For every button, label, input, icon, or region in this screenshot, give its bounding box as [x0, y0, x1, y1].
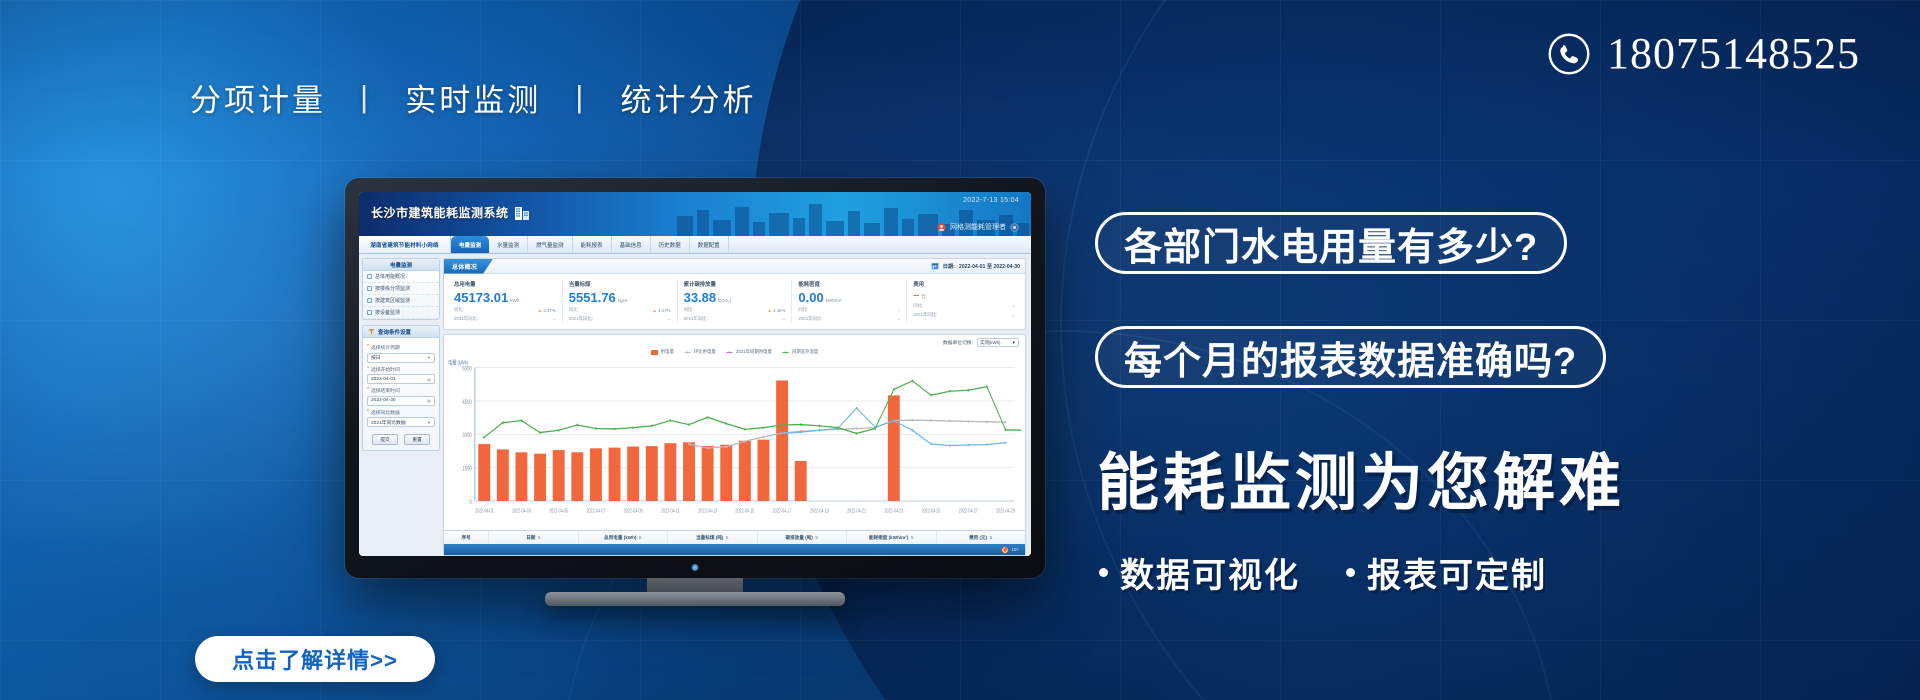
svg-text:电量 (kWh): 电量 (kWh) [448, 359, 469, 367]
list-bullet-icon [367, 274, 372, 279]
feature-bullet-visualization: 数据可视化 [1099, 548, 1300, 597]
overview-panel-title: 总体概况 [444, 259, 493, 274]
filter-label-text: 选择开始时间 [371, 366, 400, 373]
stat-prev-value: -- [782, 317, 785, 322]
nav-tab-list: 电量监测 水量监测 燃气量监测 能耗报表 基础信息 历史数据 数据配置 [451, 236, 729, 253]
filter-select-period[interactable]: 按日 ▼ [367, 353, 435, 363]
trend-up-icon: ▲ [653, 308, 657, 313]
chart-unit-value: 实测(kWh) [980, 340, 1001, 346]
stat-value-row: 33.88 t(CO₂) [684, 291, 786, 304]
tagline-part-3: 统计分析 [621, 83, 757, 118]
svg-text:0: 0 [469, 499, 471, 506]
svg-text:2022-04-01: 2022-04-01 [475, 508, 494, 514]
required-marker: * [367, 388, 369, 393]
chevron-down-icon: ▼ [427, 355, 431, 360]
svg-text:2022-04-05: 2022-04-05 [549, 508, 568, 514]
header-timestamp: 2022-7-13 15:04 [963, 197, 1019, 204]
stat-prev-row: 2021年同比: -- [684, 316, 786, 322]
overview-date-range[interactable]: 日期: 2022-04-01 至 2022-04-30 [931, 262, 1020, 270]
required-marker: * [367, 345, 369, 350]
sort-icon[interactable]: ⇅ [537, 536, 540, 539]
chart-panel: 数据单位切换: 实测(kWh) ▼ 用电量 [443, 334, 1026, 556]
stat-prev-label: 2021年同比: [569, 316, 593, 322]
svg-text:2022-04-09: 2022-04-09 [624, 508, 643, 514]
table-col-index: 序号 [444, 531, 489, 544]
stat-compare-label: 同比: [798, 307, 808, 313]
filter-label-period: * 选择统计周期 [367, 344, 435, 351]
filter-input-start-date[interactable]: 2022-04-01 ▤ [367, 374, 435, 384]
sort-icon[interactable]: ⇅ [815, 536, 818, 539]
legend-label: 2021年同期用电量 [736, 349, 772, 355]
tagline-part-2: 实时监测 [405, 83, 541, 118]
table-col-total-electricity[interactable]: 总用电量 (kWh)⇅ [579, 531, 668, 544]
nav-tab-water[interactable]: 水量监测 [489, 236, 528, 253]
stat-trend: 4.47% [543, 308, 555, 313]
filter-value-period: 按日 [371, 354, 381, 361]
legend-swatch-line-icon [684, 350, 691, 355]
energy-chart: 01500300045006000电量 (kWh)2022-04-012022-… [444, 356, 1021, 530]
app-body: 电量监测 总体用能概况 按楼栋分项监测 按建筑区域监 [359, 254, 1031, 556]
legend-swatch-line-icon [726, 350, 733, 355]
stat-card-carbon-emission: 累计碳排放量 33.88 t(CO₂) 同比: ▲ 4.46% [678, 280, 793, 322]
stat-value: 5551.76 [569, 291, 616, 304]
refresh-icon[interactable] [1001, 546, 1009, 554]
stat-prev-label: 2021年同比: [913, 312, 937, 318]
nav-tab-config[interactable]: 数据配置 [690, 236, 729, 253]
legend-swatch-bar-icon [651, 350, 658, 355]
svg-text:2022-04-27: 2022-04-27 [959, 508, 978, 514]
chart-legend: 用电量 环比用电量 2021年同期用电量 [444, 347, 1025, 356]
sidebar-section-title: 电量监测 [363, 259, 439, 271]
stat-trend: -- [1012, 304, 1015, 309]
table-col-cost[interactable]: 费用 (元)⇅ [937, 531, 1025, 544]
stat-compare-row: 同比: ▲ 4.47% [454, 307, 556, 313]
sidebar-nav-card: 电量监测 总体用能概况 按楼栋分项监测 按建筑区域监 [362, 258, 440, 320]
list-bullet-icon [367, 298, 372, 303]
stat-trend: 4.47% [658, 308, 670, 313]
chart-unit-label: 数据单位切换: [943, 339, 973, 346]
svg-text:2022-04-25: 2022-04-25 [922, 508, 941, 514]
sidebar-item-by-building[interactable]: 按楼栋分项监测 [363, 283, 439, 295]
svg-text:2022-04-15: 2022-04-15 [735, 508, 754, 514]
monitor-bezel: 长沙市建筑能耗监测系统 [345, 178, 1045, 578]
stat-card-cost: 费用 -- 元 同比: -- [907, 280, 1021, 322]
app-screen: 长沙市建筑能耗监测系统 [359, 192, 1031, 556]
stat-value-row: 0.00 kWh/m² [798, 291, 900, 304]
stat-trend: -- [897, 308, 900, 313]
table-footer-badge: 10+ [1012, 547, 1019, 552]
legend-label: 用电量 [661, 349, 674, 355]
tagline-part-1: 分项计量 [190, 83, 326, 118]
building-icon [514, 205, 530, 221]
header-user[interactable]: 网格测能耗管理者 [937, 222, 1019, 232]
bullet-dot-icon [1346, 568, 1355, 577]
trend-up-icon: ▲ [538, 308, 542, 313]
legend-item-mom[interactable]: 环比用电量 [684, 349, 716, 355]
filter-label-text: 选择统计周期 [371, 344, 400, 351]
table-header-row: 序号 日期⇅ 总用电量 (kWh)⇅ 当量标煤 (吨)⇅ 碳排放量 (吨)⇅ 能… [444, 531, 1025, 544]
monitor-power-led [692, 564, 699, 571]
stat-compare-label: 同比: [454, 307, 464, 313]
sidebar-item-by-device[interactable]: 按设备监测 [363, 307, 439, 319]
sidebar-item-label: 总体用能概况 [375, 273, 405, 280]
stat-name: 总用电量 [454, 280, 556, 288]
required-marker: * [367, 367, 369, 372]
stat-trend: 4.46% [773, 308, 785, 313]
sidebar-item-overview[interactable]: 总体用能概况 [363, 271, 439, 283]
table-col-label: 日期 [526, 535, 535, 541]
stat-value-row: 45173.01 kWh [454, 291, 556, 304]
svg-text:2022-04-19: 2022-04-19 [810, 508, 829, 514]
svg-text:2022-04-07: 2022-04-07 [586, 508, 605, 514]
stat-value-row: 5551.76 kgce [569, 291, 671, 304]
stat-compare-row: 同比: ▲ 4.47% [569, 307, 671, 313]
tagline-separator-2: 丨 [553, 75, 609, 120]
sidebar-item-label: 按建筑区域监测 [375, 297, 410, 304]
headline: 能耗监测为您解难 [1097, 432, 1625, 522]
table-footer: 10+ [444, 544, 1025, 555]
stat-unit: 元 [921, 295, 926, 300]
filter-panel-title: 查询条件设置 [378, 328, 411, 336]
table-col-label: 序号 [462, 535, 471, 541]
stat-compare-row: 同比: -- [798, 307, 900, 313]
legend-item-usage[interactable]: 用电量 [651, 349, 674, 355]
stat-prev-value: -- [897, 317, 900, 322]
table-col-label: 能耗密度 (kWh/m²) [869, 535, 908, 541]
nav-tab-history[interactable]: 历史数据 [651, 236, 690, 253]
table-col-label: 当量标煤 (吨) [696, 535, 723, 541]
stat-prev-label: 2021年同比: [684, 316, 708, 322]
filter-value-end-date: 2022-04-30 [371, 398, 396, 403]
app-header: 长沙市建筑能耗监测系统 [359, 192, 1031, 236]
app-logo: 长沙市建筑能耗监测系统 [371, 204, 530, 221]
stat-prev-row: 2021年同比: -- [454, 316, 556, 322]
stat-value: -- [913, 291, 919, 300]
chevron-down-icon: ▼ [1012, 340, 1016, 345]
overview-panel-header: 总体概况 日期: [444, 259, 1025, 274]
table-col-label: 碳排放量 (吨) [786, 535, 813, 541]
filter-label-compare: * 选择同比数据 [367, 409, 435, 416]
feature-bullet-label: 报表可定制 [1367, 548, 1547, 597]
sidebar-item-label: 按设备监测 [375, 309, 400, 316]
required-marker: * [367, 410, 369, 415]
sort-icon[interactable]: ⇅ [989, 536, 992, 539]
stat-card-row: 总用电量 45173.01 kWh 同比: ▲ 4.47% [444, 274, 1025, 329]
stat-value: 0.00 [798, 291, 823, 304]
cta-button[interactable]: 点击了解详情>> [195, 636, 435, 682]
header-user-label: 网格测能耗管理者 [950, 222, 1006, 232]
chart-plot-area: 01500300045006000电量 (kWh)2022-04-012022-… [444, 356, 1025, 530]
table-col-label: 总用电量 (kWh) [604, 535, 636, 541]
nav-home-tab[interactable]: 湖南省建筑节能材料小网络 [359, 236, 451, 253]
svg-text:4500: 4500 [462, 399, 472, 406]
svg-text:2022-04-29: 2022-04-29 [996, 508, 1015, 514]
settings-gear-icon[interactable] [1010, 223, 1019, 232]
data-table: 序号 日期⇅ 总用电量 (kWh)⇅ 当量标煤 (吨)⇅ 碳排放量 (吨)⇅ 能… [444, 530, 1025, 555]
svg-text:2022-04-03: 2022-04-03 [512, 508, 531, 514]
app-nav: 湖南省建筑节能材料小网络 电量监测 水量监测 燃气量监测 能耗报表 基础信息 历… [359, 236, 1031, 254]
monitor-mockup: 长沙市建筑能耗监测系统 [345, 178, 1045, 608]
stat-value-row: -- 元 [913, 291, 1015, 300]
tagline-separator-1: 丨 [338, 75, 394, 120]
tagline: 分项计量 丨 实时监测 丨 统计分析 [190, 75, 757, 120]
svg-text:2022-04-23: 2022-04-23 [884, 508, 903, 514]
overview-panel: 总体概况 日期: [443, 258, 1026, 330]
filter-input-end-date[interactable]: 2022-04-30 ▤ [367, 396, 435, 406]
stat-prev-value: -- [1012, 313, 1015, 318]
stat-compare-label: 同比: [569, 307, 579, 313]
sidebar-filter-card: 查询条件设置 * 选择统计周期 按日 ▼ [362, 325, 440, 451]
calendar-icon [931, 262, 939, 270]
right-content-column: 各部门水电用量有多少? 每个月的报表数据准确吗? 能耗监测为您解难 数据可视化 … [1095, 0, 1895, 700]
user-avatar-icon [937, 223, 946, 232]
app-main: 总体概况 日期: [443, 254, 1031, 556]
filter-label-text: 选择同比数据 [371, 409, 400, 416]
stat-unit: kWh/m² [826, 299, 842, 304]
nav-tab-electricity[interactable]: 电量监测 [451, 236, 489, 253]
legend-label: 环比用电量 [694, 349, 716, 355]
svg-text:1500: 1500 [462, 466, 472, 473]
svg-text:2022-04-11: 2022-04-11 [661, 508, 680, 514]
sort-icon[interactable]: ⇅ [638, 536, 641, 539]
svg-text:2022-04-13: 2022-04-13 [698, 508, 717, 514]
stat-prev-row: 2021年同比: -- [913, 312, 1015, 318]
svg-text:3000: 3000 [462, 433, 472, 440]
calendar-icon: ▤ [427, 377, 431, 382]
stat-compare-label: 同比: [913, 303, 923, 309]
stat-prev-row: 2021年同比: -- [798, 316, 900, 322]
legend-item-temperature[interactable]: 同期室外温度 [782, 349, 818, 355]
question-pill-1: 各部门水电用量有多少? [1095, 212, 1567, 274]
stat-prev-value: -- [553, 317, 556, 322]
stat-name: 累计碳排放量 [684, 280, 786, 288]
stat-compare-label: 同比: [684, 307, 694, 313]
overview-date-value: 2022-04-01 至 2022-04-30 [959, 263, 1020, 270]
stat-card-energy-density: 能耗密度 0.00 kWh/m² 同比: -- [792, 280, 907, 322]
nav-tab-basic-info[interactable]: 基础信息 [612, 236, 651, 253]
chevron-down-icon: ▼ [427, 420, 431, 425]
filter-select-compare[interactable]: 2021年同比数据 ▼ [367, 417, 435, 427]
nav-tab-gas[interactable]: 燃气量监测 [528, 236, 573, 253]
stat-name: 当量标煤 [569, 280, 671, 288]
stat-compare-row: 同比: -- [913, 303, 1015, 309]
bullet-dot-icon [1099, 568, 1108, 577]
sort-icon[interactable]: ⇅ [910, 536, 913, 539]
feature-bullet-custom-report: 报表可定制 [1346, 548, 1547, 597]
filter-label-text: 选择结束时间 [371, 387, 400, 394]
stat-compare-row: 同比: ▲ 4.46% [684, 307, 786, 313]
chart-toolbar: 数据单位切换: 实测(kWh) ▼ [444, 335, 1025, 347]
legend-item-yoy[interactable]: 2021年同期用电量 [726, 349, 772, 355]
sort-icon[interactable]: ⇅ [725, 536, 728, 539]
nav-tab-report[interactable]: 能耗报表 [573, 236, 612, 253]
stat-unit: t(CO₂) [718, 299, 731, 304]
stat-unit: kWh [510, 299, 519, 304]
stat-value: 45173.01 [454, 291, 508, 304]
filter-form: * 选择统计周期 按日 ▼ * 选择开始时间 [363, 338, 439, 450]
question-pill-2: 每个月的报表数据准确吗? [1095, 326, 1606, 388]
stat-prev-label: 2021年同比: [454, 316, 478, 322]
calendar-icon: ▤ [427, 398, 431, 403]
promo-banner: 分项计量 丨 实时监测 丨 统计分析 18075148525 [0, 0, 1920, 700]
app-title: 长沙市建筑能耗监测系统 [371, 204, 509, 221]
app-sidebar: 电量监测 总体用能概况 按楼栋分项监测 按建筑区域监 [359, 254, 443, 556]
filter-label-start: * 选择开始时间 [367, 366, 435, 373]
sidebar-item-label: 按楼栋分项监测 [375, 285, 410, 292]
table-col-density[interactable]: 能耗密度 (kWh/m²)⇅ [847, 531, 936, 544]
filter-panel-title-row: 查询条件设置 [363, 326, 439, 338]
svg-text:2022-04-21: 2022-04-21 [847, 508, 866, 514]
stat-name: 能耗密度 [798, 280, 900, 288]
feature-bullets: 数据可视化 报表可定制 [1099, 548, 1547, 597]
filter-label-end: * 选择结束时间 [367, 387, 435, 394]
stat-prev-label: 2021年同比: [798, 316, 822, 322]
stat-card-coal-equivalent: 当量标煤 5551.76 kgce 同比: ▲ 4.47% [563, 280, 678, 322]
list-bullet-icon [367, 286, 372, 291]
stat-card-total-electricity: 总用电量 45173.01 kWh 同比: ▲ 4.47% [448, 280, 563, 322]
filter-actions: 提交 重置 [367, 434, 435, 445]
legend-label: 同期室外温度 [792, 349, 818, 355]
svg-text:2022-04-17: 2022-04-17 [773, 508, 792, 514]
trend-up-icon: ▲ [767, 308, 771, 313]
submit-button[interactable]: 提交 [372, 434, 398, 445]
monitor-stand-base [545, 592, 845, 606]
table-col-label: 费用 (元) [969, 535, 987, 541]
filter-value-start-date: 2022-04-01 [371, 377, 396, 382]
reset-button[interactable]: 重置 [404, 434, 430, 445]
stat-prev-row: 2021年同比: -- [569, 316, 671, 322]
stat-prev-value: -- [668, 317, 671, 322]
sidebar-item-by-area[interactable]: 按建筑区域监测 [363, 295, 439, 307]
feature-bullet-label: 数据可视化 [1120, 548, 1300, 597]
stat-unit: kgce [618, 299, 628, 304]
legend-swatch-line-icon [782, 350, 789, 355]
list-bullet-icon [367, 310, 372, 315]
filter-icon [368, 328, 375, 335]
stat-name: 费用 [913, 280, 1015, 288]
stat-value: 33.88 [684, 291, 717, 304]
filter-value-compare: 2021年同比数据 [371, 419, 406, 426]
table-col-carbon[interactable]: 碳排放量 (吨)⇅ [758, 531, 847, 544]
chart-unit-select[interactable]: 实测(kWh) ▼ [977, 338, 1019, 347]
table-col-date[interactable]: 日期⇅ [489, 531, 578, 544]
table-col-coal-equivalent[interactable]: 当量标煤 (吨)⇅ [668, 531, 757, 544]
overview-date-label: 日期: [943, 263, 955, 270]
